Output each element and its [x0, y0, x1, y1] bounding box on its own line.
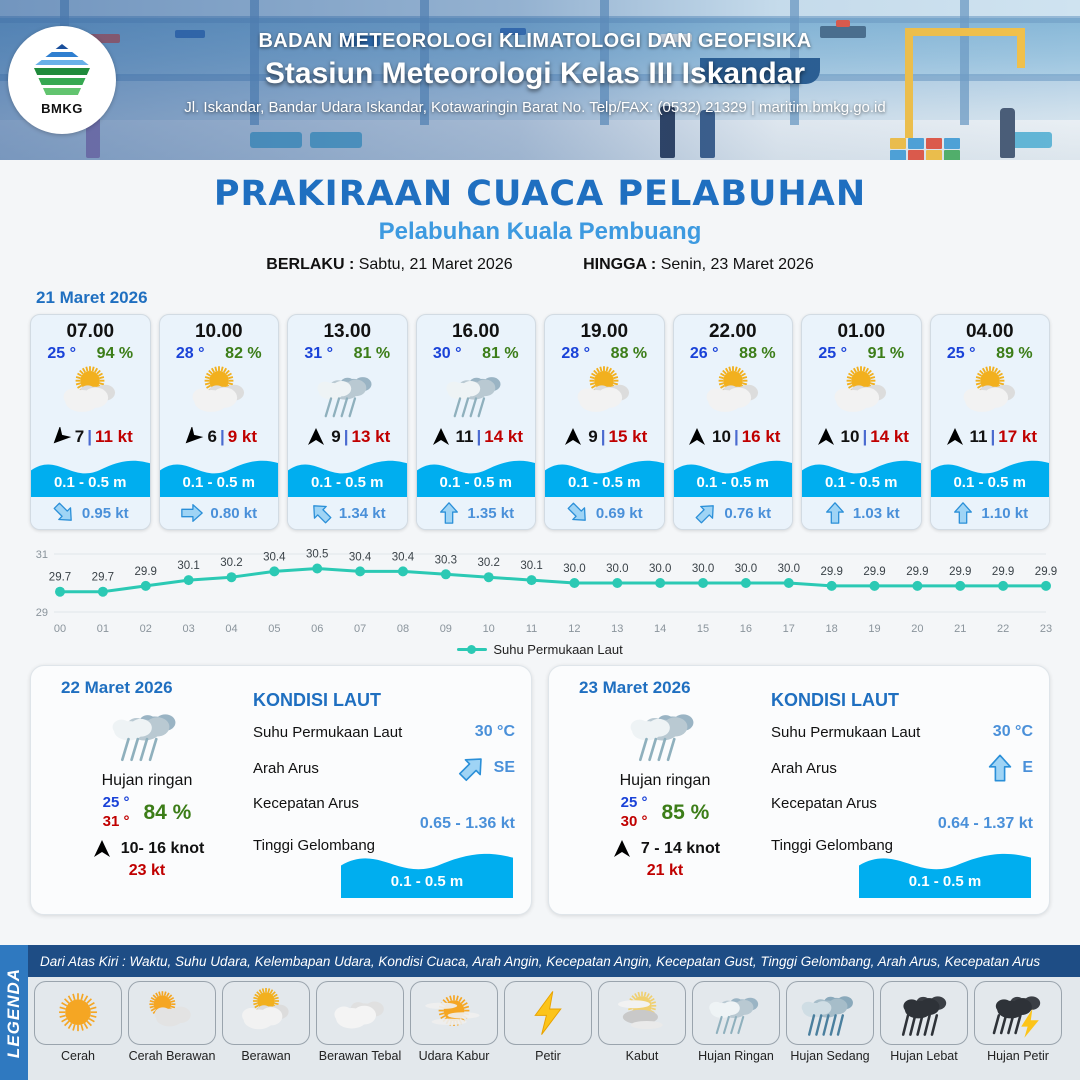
svg-text:21: 21 [954, 623, 966, 635]
rain-icon [565, 698, 765, 770]
legend-item: Petir [504, 981, 592, 1063]
card-current-speed: 0.80 kt [210, 505, 257, 522]
card-wind-speed: 11 [970, 427, 988, 447]
current-direction-value: SE [494, 759, 515, 777]
chart-legend-marker [457, 648, 487, 651]
current-speed-label: Kecepatan Arus [253, 795, 359, 812]
legend-item: Berawan Tebal [316, 981, 404, 1063]
card-gust: 14 kt [870, 427, 909, 447]
legend-item: Cerah Berawan [128, 981, 216, 1063]
hourly-card: 13.00 31 ° 81 % 9 | 13 kt 0.1 - 0.5 m [287, 314, 408, 530]
svg-text:02: 02 [140, 623, 152, 635]
current-direction-icon [52, 501, 76, 525]
hourly-card: 19.00 28 ° 88 % 9 | 15 kt 0.1 - 0.5 m [544, 314, 665, 530]
daily-temp-max: 30 ° [621, 813, 648, 832]
moderate-rain-icon [786, 981, 874, 1045]
daily-condition: Hujan ringan [565, 772, 765, 790]
wind-direction-icon [814, 427, 838, 447]
wind-direction-icon [429, 427, 453, 447]
svg-text:30.0: 30.0 [563, 563, 585, 575]
validity-range: BERLAKU : Sabtu, 21 Maret 2026 HINGGA : … [0, 256, 1080, 274]
card-humidity: 81 % [482, 345, 518, 363]
svg-text:19: 19 [868, 623, 880, 635]
daily-wave: 0.1 - 0.5 m [341, 842, 513, 898]
current-direction-icon [694, 501, 718, 525]
daily-wind: 10- 16 knot [47, 839, 247, 859]
card-humidity: 88 % [611, 345, 647, 363]
card-temperature: 28 ° [176, 345, 205, 363]
svg-text:29.7: 29.7 [49, 572, 71, 584]
card-wind-speed: 7 [75, 427, 84, 447]
page-subtitle: Pelabuhan Kuala Pembuang [0, 218, 1080, 246]
card-wind: 11 | 17 kt [931, 425, 1050, 451]
wind-direction-icon [90, 839, 114, 859]
card-wave-value: 0.1 - 0.5 m [160, 474, 279, 491]
svg-text:00: 00 [54, 623, 66, 635]
legend-item-label: Kabut [598, 1049, 686, 1063]
svg-text:30.1: 30.1 [520, 560, 542, 572]
legend-side-title: LEGENDA [0, 945, 28, 1080]
card-separator: | [220, 427, 225, 447]
legend-item-label: Petir [504, 1049, 592, 1063]
card-temperature: 28 ° [561, 345, 590, 363]
daily-humidity: 84 % [143, 801, 191, 825]
daily-humidity: 85 % [661, 801, 709, 825]
card-current-speed: 0.95 kt [82, 505, 129, 522]
sst-label: Suhu Permukaan Laut [253, 724, 402, 741]
sun-cloud-icon [545, 363, 664, 425]
card-wave-value: 0.1 - 0.5 m [417, 474, 536, 491]
card-gust: 16 kt [742, 427, 781, 447]
legend-item: Hujan Sedang [786, 981, 874, 1063]
daily-date: 22 Maret 2026 [61, 678, 247, 698]
card-wind-speed: 6 [207, 427, 216, 447]
card-separator: | [344, 427, 349, 447]
legend-item: Hujan Lebat [880, 981, 968, 1063]
card-wave-value: 0.1 - 0.5 m [802, 474, 921, 491]
svg-text:16: 16 [740, 623, 752, 635]
sun-cloud-icon [160, 363, 279, 425]
card-separator: | [601, 427, 606, 447]
valid-from-label: BERLAKU : [266, 256, 354, 273]
card-wind-speed: 10 [841, 427, 860, 447]
legend-item-label: Cerah Berawan [128, 1049, 216, 1063]
daily-gust: 21 kt [565, 862, 765, 880]
cloud-icon [316, 981, 404, 1045]
svg-text:09: 09 [440, 623, 452, 635]
fog-icon [598, 981, 686, 1045]
svg-text:30.0: 30.0 [778, 563, 800, 575]
svg-text:29.9: 29.9 [992, 566, 1014, 578]
card-time: 04.00 [931, 315, 1050, 343]
svg-text:03: 03 [182, 623, 194, 635]
current-speed-value: 0.65 - 1.36 kt [253, 815, 515, 833]
card-time: 13.00 [288, 315, 407, 343]
card-current: 1.03 kt [802, 497, 921, 529]
lightning-icon [504, 981, 592, 1045]
card-gust: 15 kt [608, 427, 647, 447]
hourly-card: 22.00 26 ° 88 % 10 | 16 kt 0.1 - 0.5 m [673, 314, 794, 530]
card-temperature: 25 ° [947, 345, 976, 363]
page-title: PRAKIRAAN CUACA PELABUHAN [0, 174, 1080, 214]
card-current: 0.95 kt [31, 497, 150, 529]
card-wave-value: 0.1 - 0.5 m [545, 474, 664, 491]
wind-direction-icon [180, 427, 204, 447]
card-humidity: 88 % [739, 345, 775, 363]
sun-icon [34, 981, 122, 1045]
svg-text:29: 29 [36, 607, 48, 619]
card-current: 1.10 kt [931, 497, 1050, 529]
wind-direction-icon [943, 427, 967, 447]
card-wind-speed: 10 [712, 427, 731, 447]
rain-icon [47, 698, 247, 770]
legend-item-label: Berawan [222, 1049, 310, 1063]
legend-item-label: Cerah [34, 1049, 122, 1063]
current-direction-icon [985, 753, 1015, 783]
card-time: 07.00 [31, 315, 150, 343]
svg-text:30.2: 30.2 [478, 557, 500, 569]
svg-text:30.4: 30.4 [263, 551, 286, 563]
card-time: 16.00 [417, 315, 536, 343]
daily-wave: 0.1 - 0.5 m [859, 842, 1031, 898]
card-wind: 9 | 13 kt [288, 425, 407, 451]
card-time: 22.00 [674, 315, 793, 343]
legend-item-label: Hujan Petir [974, 1049, 1062, 1063]
wind-direction-icon [685, 427, 709, 447]
card-current: 0.69 kt [545, 497, 664, 529]
svg-text:15: 15 [697, 623, 709, 635]
daily-wave-value: 0.1 - 0.5 m [859, 873, 1031, 890]
sst-label: Suhu Permukaan Laut [771, 724, 920, 741]
current-direction-icon [437, 501, 461, 525]
svg-text:08: 08 [397, 623, 409, 635]
daily-wave-value: 0.1 - 0.5 m [341, 873, 513, 890]
current-speed-label: Kecepatan Arus [771, 795, 877, 812]
logo-arc-icon [34, 44, 90, 66]
legend-section: LEGENDA Dari Atas Kiri : Waktu, Suhu Uda… [0, 945, 1080, 1080]
light-rain-icon [692, 981, 780, 1045]
daily-wind: 7 - 14 knot [565, 839, 765, 859]
svg-text:30.0: 30.0 [692, 563, 714, 575]
legend-item-label: Hujan Lebat [880, 1049, 968, 1063]
card-gust: 17 kt [998, 427, 1037, 447]
current-direction-icon [566, 501, 590, 525]
current-speed-value: 0.64 - 1.37 kt [771, 815, 1033, 833]
legend-item: Berawan [222, 981, 310, 1063]
card-separator: | [476, 427, 481, 447]
legend-note: Dari Atas Kiri : Waktu, Suhu Udara, Kele… [40, 954, 1040, 969]
valid-until-value: Senin, 23 Maret 2026 [661, 256, 814, 273]
current-direction-icon [309, 501, 333, 525]
card-separator: | [990, 427, 995, 447]
station-name: Stasiun Meteorologi Kelas III Iskandar [100, 57, 970, 91]
card-current-speed: 0.69 kt [596, 505, 643, 522]
wind-direction-icon [48, 427, 72, 447]
daily-condition: Hujan ringan [47, 772, 247, 790]
svg-text:29.9: 29.9 [949, 566, 971, 578]
svg-text:29.9: 29.9 [135, 566, 157, 578]
current-direction-value: E [1022, 759, 1033, 777]
sun-cloud-icon [802, 363, 921, 425]
daily-wind-value: 7 - 14 knot [641, 840, 720, 858]
hourly-card: 10.00 28 ° 82 % 6 | 9 kt 0.1 - 0.5 m [159, 314, 280, 530]
card-gust: 11 kt [95, 427, 133, 447]
svg-text:17: 17 [783, 623, 795, 635]
sun-cloud-icon [931, 363, 1050, 425]
logo-label: BMKG [41, 101, 83, 116]
svg-text:06: 06 [311, 623, 323, 635]
agency-name: BADAN METEOROLOGI KLIMATOLOGI DAN GEOFIS… [100, 30, 970, 53]
card-temperature: 30 ° [433, 345, 462, 363]
legend-item-label: Hujan Ringan [692, 1049, 780, 1063]
daily-gust: 23 kt [47, 862, 247, 880]
daily-date: 23 Maret 2026 [579, 678, 765, 698]
sst-value: 30 °C [475, 723, 515, 741]
card-wave: 0.1 - 0.5 m [931, 451, 1050, 497]
svg-text:29.9: 29.9 [820, 566, 842, 578]
card-time: 01.00 [802, 315, 921, 343]
rain-icon [417, 363, 536, 425]
card-current: 0.80 kt [160, 497, 279, 529]
sea-condition-title: KONDISI LAUT [253, 690, 515, 711]
legend-item-label: Udara Kabur [410, 1049, 498, 1063]
daily-temp-min: 25 ° [103, 794, 130, 813]
sun-cloud-icon [31, 363, 150, 425]
svg-text:30.0: 30.0 [606, 563, 628, 575]
svg-text:10: 10 [483, 623, 495, 635]
daily-forecast-row: 22 Maret 2026 Hujan ringan 25 ° 31 ° 84 … [0, 657, 1080, 915]
svg-text:11: 11 [526, 623, 537, 635]
hourly-card: 07.00 25 ° 94 % 7 | 11 kt 0.1 - 0.5 m [30, 314, 151, 530]
legend-note-bar: Dari Atas Kiri : Waktu, Suhu Udara, Kele… [28, 945, 1080, 977]
sst-chart: 293129.70029.70129.90230.10330.20430.405… [20, 538, 1060, 638]
card-temperature: 25 ° [818, 345, 847, 363]
current-direction-icon [951, 501, 975, 525]
card-gust: 13 kt [351, 427, 390, 447]
legend-item-label: Hujan Sedang [786, 1049, 874, 1063]
card-temperature: 31 ° [304, 345, 333, 363]
card-wind: 10 | 16 kt [674, 425, 793, 451]
card-wind: 6 | 9 kt [160, 425, 279, 451]
svg-text:30.0: 30.0 [649, 563, 671, 575]
card-separator: | [87, 427, 92, 447]
legend-item: Udara Kabur [410, 981, 498, 1063]
svg-text:23: 23 [1040, 623, 1052, 635]
card-gust: 14 kt [484, 427, 523, 447]
card-wave: 0.1 - 0.5 m [674, 451, 793, 497]
logo-leaf-icon [34, 68, 90, 98]
legend-item-label: Berawan Tebal [316, 1049, 404, 1063]
card-wave-value: 0.1 - 0.5 m [31, 474, 150, 491]
hourly-card: 16.00 30 ° 81 % 11 | 14 kt 0.1 - 0.5 m [416, 314, 537, 530]
daily-card: 22 Maret 2026 Hujan ringan 25 ° 31 ° 84 … [30, 665, 532, 915]
svg-text:12: 12 [568, 623, 580, 635]
chart-legend-label: Suhu Permukaan Laut [493, 642, 622, 657]
current-direction-icon [823, 501, 847, 525]
card-wave: 0.1 - 0.5 m [545, 451, 664, 497]
svg-text:18: 18 [826, 623, 838, 635]
hourly-card: 01.00 25 ° 91 % 10 | 14 kt 0.1 - 0.5 m [801, 314, 922, 530]
station-address: Jl. Iskandar, Bandar Udara Iskandar, Kot… [100, 99, 970, 116]
legend-item: Cerah [34, 981, 122, 1063]
current-direction-icon [457, 753, 487, 783]
svg-text:30.2: 30.2 [220, 557, 242, 569]
card-time: 19.00 [545, 315, 664, 343]
svg-text:29.9: 29.9 [1035, 566, 1057, 578]
card-current-speed: 1.10 kt [981, 505, 1028, 522]
card-temperature: 25 ° [47, 345, 76, 363]
hourly-date: 21 Maret 2026 [36, 288, 1080, 308]
card-current-speed: 1.35 kt [467, 505, 514, 522]
svg-text:29.9: 29.9 [906, 566, 928, 578]
legend-item: Kabut [598, 981, 686, 1063]
card-humidity: 89 % [996, 345, 1032, 363]
svg-text:04: 04 [225, 623, 237, 635]
chart-legend: Suhu Permukaan Laut [0, 642, 1080, 657]
page-title-block: PRAKIRAAN CUACA PELABUHAN Pelabuhan Kual… [0, 174, 1080, 274]
card-wave: 0.1 - 0.5 m [417, 451, 536, 497]
sun-cloud-icon [222, 981, 310, 1045]
daily-card: 23 Maret 2026 Hujan ringan 25 ° 30 ° 85 … [548, 665, 1050, 915]
card-wave-value: 0.1 - 0.5 m [288, 474, 407, 491]
legend-item: Hujan Petir [974, 981, 1062, 1063]
haze-icon [410, 981, 498, 1045]
svg-text:01: 01 [97, 623, 109, 635]
wind-direction-icon [610, 839, 634, 859]
valid-from-value: Sabtu, 21 Maret 2026 [359, 256, 513, 273]
card-humidity: 94 % [97, 345, 133, 363]
svg-text:30.3: 30.3 [435, 554, 457, 566]
card-humidity: 82 % [225, 345, 261, 363]
legend-items: Cerah Cerah Berawan Berawan Berawan Teba… [34, 981, 1074, 1063]
svg-text:30.5: 30.5 [306, 549, 328, 561]
card-wind-speed: 9 [588, 427, 597, 447]
heavy-rain-icon [880, 981, 968, 1045]
sea-condition-title: KONDISI LAUT [771, 690, 1033, 711]
svg-text:07: 07 [354, 623, 366, 635]
card-temperature: 26 ° [690, 345, 719, 363]
hourly-card: 04.00 25 ° 89 % 11 | 17 kt 0.1 - 0.5 m [930, 314, 1051, 530]
card-wind-speed: 9 [331, 427, 340, 447]
sst-value: 30 °C [993, 723, 1033, 741]
page-header: BMKG BADAN METEOROLOGI KLIMATOLOGI DAN G… [0, 0, 1080, 160]
card-current: 0.76 kt [674, 497, 793, 529]
card-humidity: 81 % [354, 345, 390, 363]
svg-text:29.7: 29.7 [92, 572, 114, 584]
svg-text:30.1: 30.1 [177, 560, 199, 572]
card-separator: | [862, 427, 867, 447]
card-gust: 9 kt [228, 427, 257, 447]
svg-text:29.9: 29.9 [863, 566, 885, 578]
svg-text:05: 05 [268, 623, 280, 635]
svg-text:30.0: 30.0 [735, 563, 757, 575]
card-wave: 0.1 - 0.5 m [802, 451, 921, 497]
card-wave: 0.1 - 0.5 m [160, 451, 279, 497]
card-wave-value: 0.1 - 0.5 m [674, 474, 793, 491]
card-time: 10.00 [160, 315, 279, 343]
card-current: 1.35 kt [417, 497, 536, 529]
current-direction-label: Arah Arus [253, 760, 319, 777]
current-direction-label: Arah Arus [771, 760, 837, 777]
daily-temp-min: 25 ° [621, 794, 648, 813]
hourly-forecast-row: 07.00 25 ° 94 % 7 | 11 kt 0.1 - 0.5 m [0, 314, 1080, 530]
card-wind: 7 | 11 kt [31, 425, 150, 451]
card-current-speed: 1.34 kt [339, 505, 386, 522]
card-wind-speed: 11 [456, 427, 474, 447]
card-wave-value: 0.1 - 0.5 m [931, 474, 1050, 491]
card-humidity: 91 % [868, 345, 904, 363]
daily-wind-value: 10- 16 knot [121, 840, 205, 858]
card-wind: 10 | 14 kt [802, 425, 921, 451]
valid-until-label: HINGGA : [583, 256, 656, 273]
card-current: 1.34 kt [288, 497, 407, 529]
card-wind: 11 | 14 kt [417, 425, 536, 451]
svg-text:31: 31 [36, 549, 48, 561]
current-direction-icon [180, 501, 204, 525]
card-wave: 0.1 - 0.5 m [31, 451, 150, 497]
svg-text:30.4: 30.4 [392, 551, 415, 563]
legend-item: Hujan Ringan [692, 981, 780, 1063]
svg-text:30.4: 30.4 [349, 551, 372, 563]
sst-chart-svg: 293129.70029.70129.90230.10330.20430.405… [20, 538, 1060, 638]
sun-cloud-icon [674, 363, 793, 425]
sun-small-cloud-icon [128, 981, 216, 1045]
card-current-speed: 0.76 kt [724, 505, 771, 522]
card-wave: 0.1 - 0.5 m [288, 451, 407, 497]
svg-text:22: 22 [997, 623, 1009, 635]
wind-direction-icon [304, 427, 328, 447]
svg-text:14: 14 [654, 623, 666, 635]
rain-icon [288, 363, 407, 425]
svg-text:20: 20 [911, 623, 923, 635]
card-separator: | [734, 427, 739, 447]
svg-text:13: 13 [611, 623, 623, 635]
thunderstorm-icon [974, 981, 1062, 1045]
card-current-speed: 1.03 kt [853, 505, 900, 522]
wind-direction-icon [561, 427, 585, 447]
daily-temp-max: 31 ° [103, 813, 130, 832]
card-wind: 9 | 15 kt [545, 425, 664, 451]
